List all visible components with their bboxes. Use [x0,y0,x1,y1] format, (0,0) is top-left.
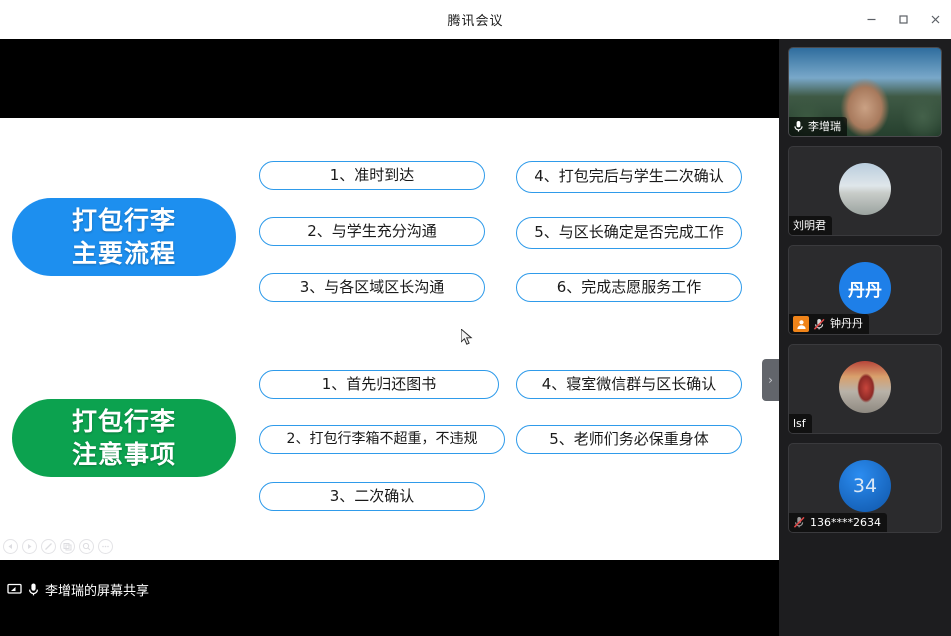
section-pill-notes: 打包行李 注意事项 [12,399,236,477]
note-item-3: 3、二次确认 [259,482,485,511]
pen-icon[interactable] [41,539,56,554]
participant-sidebar[interactable]: 李增瑞 刘明君 丹丹 [779,39,951,636]
title-bar: 腾讯会议 [0,0,951,39]
pill-line-1: 打包行李 [72,204,176,237]
participant-nameplate: 钟丹丹 [789,314,869,334]
window-controls [855,0,951,39]
participant-name: 李增瑞 [808,119,841,134]
share-status-bar: 李增瑞的屏幕共享 [0,574,779,605]
mouse-cursor [461,329,475,347]
microphone-icon [27,582,40,597]
more-options-icon[interactable] [98,539,113,554]
avatar [839,361,891,413]
note-item-5: 5、老师们务必保重身体 [516,425,742,454]
participant-name: 钟丹丹 [830,316,863,331]
participant-name: 刘明君 [793,218,826,233]
host-badge-icon [793,316,809,332]
shared-screen-stage[interactable]: 打包行李 主要流程 1、准时到达 2、与学生充分沟通 3、与各区域区长沟通 4、… [0,39,779,605]
note-item-1: 1、首先归还图书 [259,370,499,399]
participant-tile[interactable]: 李增瑞 [788,47,942,137]
participant-tile[interactable]: 34 136****2634 [788,443,942,533]
section-pill-main-process: 打包行李 主要流程 [12,198,236,276]
avatar: 丹丹 [839,262,891,314]
tencent-meeting-window: 腾讯会议 打包行李 主要流程 1、准时到达 2、与学生充分沟通 3、与各区域区长… [0,0,951,636]
process-item-2: 2、与学生充分沟通 [259,217,485,246]
microphone-icon [793,120,804,133]
zoom-icon[interactable] [79,539,94,554]
participant-nameplate: 刘明君 [789,216,832,235]
participant-tile[interactable]: lsf [788,344,942,434]
shared-slide: 打包行李 主要流程 1、准时到达 2、与学生充分沟通 3、与各区域区长沟通 4、… [0,118,779,560]
participant-name: lsf [793,416,806,431]
microphone-muted-icon [813,318,826,331]
window-title: 腾讯会议 [447,10,503,29]
process-item-6: 6、完成志愿服务工作 [516,273,742,302]
participant-tile[interactable]: 丹丹 钟丹丹 [788,245,942,335]
previous-slide-icon[interactable] [3,539,18,554]
presenter-toolbar[interactable] [3,539,113,554]
screen-share-icon [7,582,22,597]
process-item-1: 1、准时到达 [259,161,485,190]
participant-nameplate: lsf [789,414,812,433]
process-item-3: 3、与各区域区长沟通 [259,273,485,302]
process-item-4: 4、打包完后与学生二次确认 [516,161,742,193]
process-item-5: 5、与区长确定是否完成工作 [516,217,742,249]
note-item-2: 2、打包行李箱不超重，不违规 [259,425,505,454]
slide-menu-icon[interactable] [60,539,75,554]
share-status-label: 李增瑞的屏幕共享 [45,580,149,599]
participant-nameplate: 136****2634 [789,513,887,532]
participant-nameplate: 李增瑞 [789,117,847,136]
participant-tile[interactable]: 刘明君 [788,146,942,236]
maximize-button[interactable] [887,0,919,39]
microphone-muted-icon [793,516,806,529]
participant-name: 136****2634 [810,515,881,530]
pill-line-2: 注意事项 [72,438,176,471]
pill-line-1: 打包行李 [72,405,176,438]
pill-line-2: 主要流程 [72,237,176,270]
avatar [839,163,891,215]
close-button[interactable] [919,0,951,39]
avatar: 34 [839,460,891,512]
note-item-4: 4、寝室微信群与区长确认 [516,370,742,399]
collapse-sidebar-handle[interactable]: › [762,359,779,401]
minimize-button[interactable] [855,0,887,39]
next-slide-icon[interactable] [22,539,37,554]
